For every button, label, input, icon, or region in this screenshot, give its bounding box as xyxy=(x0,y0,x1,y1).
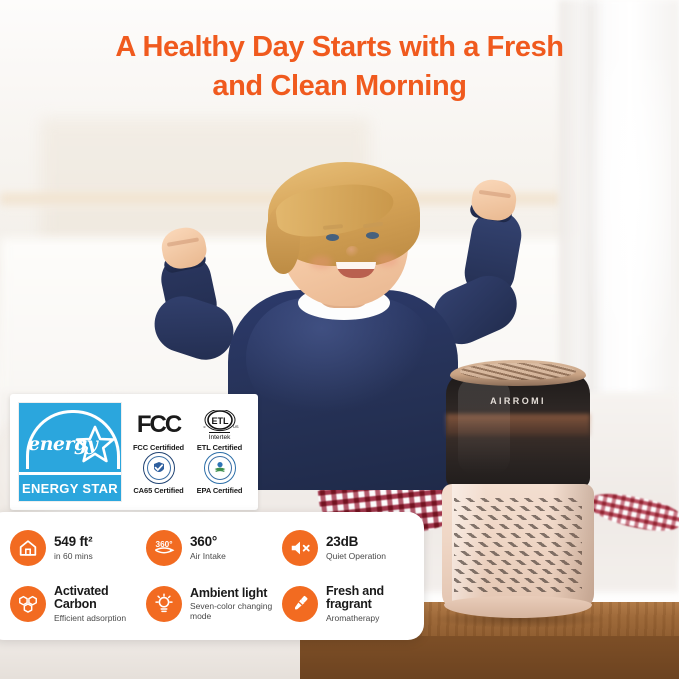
feature-title: 360° xyxy=(190,535,226,550)
cheek-left xyxy=(310,256,332,269)
feature-subtitle: Quiet Operation xyxy=(326,551,386,561)
feature-subtitle: Aromatherapy xyxy=(326,613,418,623)
star-icon xyxy=(75,425,115,463)
cert-item-fcc: FCC FCC Certifided xyxy=(128,409,189,452)
cert-item-epa: EPA Certified xyxy=(189,452,250,495)
home-icon xyxy=(10,530,46,566)
cert-item-ca65: CA65 Certified xyxy=(128,452,189,495)
floor xyxy=(0,636,330,679)
epa-seal-icon xyxy=(204,452,236,484)
cert-label-etl: ETL Certified xyxy=(197,443,242,452)
feature-subtitle: in 60 mins xyxy=(54,551,93,561)
feature-title: Activated Carbon xyxy=(54,585,146,612)
lightbulb-icon xyxy=(146,586,182,622)
page-title: A Healthy Day Starts with a Fresh and Cl… xyxy=(0,28,679,105)
wooden-table-edge xyxy=(300,636,679,679)
purifier-brand-label: AIRROMI xyxy=(446,396,590,406)
fcc-mark-icon: FCC xyxy=(137,409,180,441)
feature-highlights-panel: 549 ft² in 60 mins 360° 360° Air Intake xyxy=(0,512,424,640)
cert-label-ca65: CA65 Certified xyxy=(133,486,183,495)
energy-star-logo: energy ENERGY STAR xyxy=(18,402,122,502)
certification-card: energy ENERGY STAR FCC FCC Certifided xyxy=(10,394,258,510)
etl-mark-icon: ETL c US Intertek xyxy=(200,409,240,441)
feature-air-intake: 360° 360° Air Intake xyxy=(146,530,282,566)
window-light-glow xyxy=(581,60,671,390)
feature-row-2: Activated Carbon Efficient adsorption xyxy=(10,576,424,632)
feature-ambient-light: Ambient light Seven-color changing mode xyxy=(146,586,282,622)
honeycomb-icon xyxy=(10,586,46,622)
product-marketing-image: AIRROMI A Healthy Day Starts with a Fres… xyxy=(0,0,679,679)
feature-title: 23dB xyxy=(326,535,386,550)
eye-left xyxy=(326,234,339,241)
mute-speaker-icon xyxy=(282,530,318,566)
purifier-body xyxy=(442,484,594,610)
svg-text:US: US xyxy=(233,424,239,429)
feature-aromatherapy: Fresh and fragrant Aromatherapy xyxy=(282,585,418,623)
feature-title: 549 ft² xyxy=(54,535,93,550)
cert-item-etl: ETL c US Intertek ETL Certified xyxy=(189,409,250,452)
rotation-360-icon: 360° xyxy=(146,530,182,566)
feature-title: Fresh and fragrant xyxy=(326,585,418,612)
eye-right xyxy=(366,232,379,239)
cert-label-fcc: FCC Certifided xyxy=(133,443,184,452)
svg-text:c: c xyxy=(203,424,205,429)
feature-noise-level: 23dB Quiet Operation xyxy=(282,530,418,566)
feature-title: Ambient light xyxy=(190,587,282,601)
ca65-seal-icon xyxy=(143,452,175,484)
air-purifier-product: AIRROMI xyxy=(438,360,598,622)
headline-line-1: A Healthy Day Starts with a Fresh xyxy=(115,31,563,63)
cheek-right xyxy=(376,254,398,267)
purifier-top-grille xyxy=(460,363,576,380)
feature-subtitle: Seven-color changing mode xyxy=(190,601,282,621)
feature-row-1: 549 ft² in 60 mins 360° 360° Air Intake xyxy=(10,520,424,576)
feature-subtitle: Efficient adsorption xyxy=(54,613,146,623)
svg-text:ETL: ETL xyxy=(211,416,229,426)
feature-coverage-area: 549 ft² in 60 mins xyxy=(10,530,146,566)
purifier-base xyxy=(444,596,592,618)
left-forearm xyxy=(147,289,240,367)
energy-star-banner: ENERGY STAR xyxy=(19,472,121,501)
dropper-icon xyxy=(282,586,318,622)
certification-grid: FCC FCC Certifided ETL c US Intertek xyxy=(122,409,250,495)
etl-intertek-text: Intertek xyxy=(209,432,231,441)
headline-line-2: and Clean Morning xyxy=(40,67,639,106)
feature-subtitle: Air Intake xyxy=(190,551,226,561)
feature-activated-carbon: Activated Carbon Efficient adsorption xyxy=(10,585,146,623)
nose xyxy=(346,246,359,257)
cert-label-epa: EPA Certified xyxy=(197,486,243,495)
